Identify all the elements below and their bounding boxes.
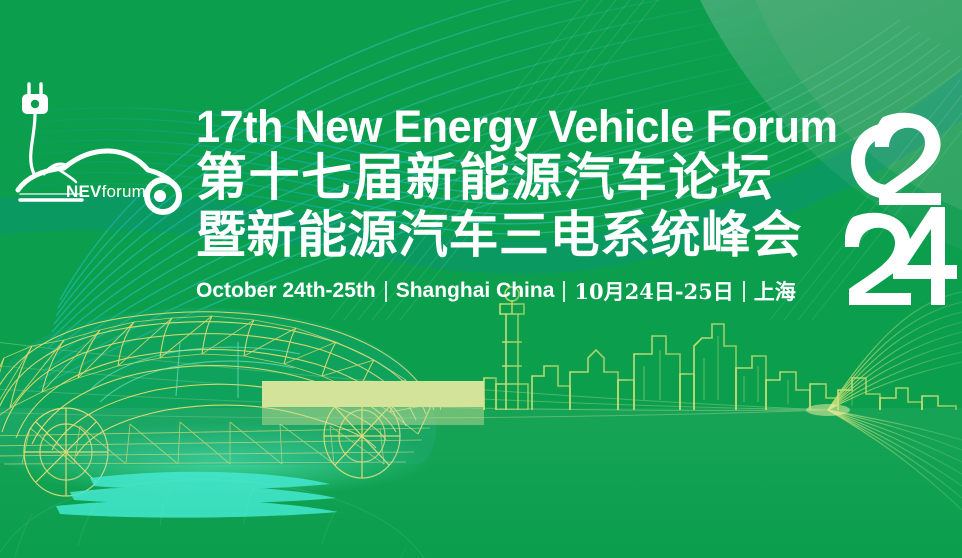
logo-brand-bold: NEV: [66, 182, 102, 201]
dateline: October 24th-25th Shanghai China 10月24日-…: [196, 276, 836, 306]
dateline-separator-2: [563, 281, 565, 302]
year-digit-4-bottom: [893, 207, 957, 305]
accent-bar: [262, 381, 484, 407]
logo-wordmark: NEVforum: [66, 182, 146, 202]
dateline-separator-3: [743, 281, 745, 302]
wheel-circle-icon: [147, 180, 179, 212]
reflection-plane: [0, 408, 962, 558]
year-2024: [845, 105, 957, 305]
accent-bar-reflection: [262, 407, 484, 425]
title-chinese-line2: 暨新能源汽车三电系统峰会: [196, 207, 836, 264]
dateline-separator-1: [385, 281, 387, 302]
title-english: 17th New Energy Vehicle Forum: [196, 104, 810, 150]
event-banner: NEVforum 17th New Energy Vehicle Forum 第…: [0, 0, 962, 558]
date-english: October 24th-25th: [196, 279, 376, 303]
headline-block: 17th New Energy Vehicle Forum 第十七届新能源汽车论…: [196, 104, 836, 306]
year-digit-0-top: [851, 123, 889, 199]
title-chinese-line1: 第十七届新能源汽车论坛: [196, 150, 836, 207]
location-chinese: 上海: [754, 276, 796, 306]
charging-plug-icon: [22, 84, 48, 174]
location-english: Shanghai China: [396, 279, 555, 303]
date-chinese: 10月24日-25日: [574, 276, 733, 306]
logo-brand-light: forum: [102, 182, 146, 201]
